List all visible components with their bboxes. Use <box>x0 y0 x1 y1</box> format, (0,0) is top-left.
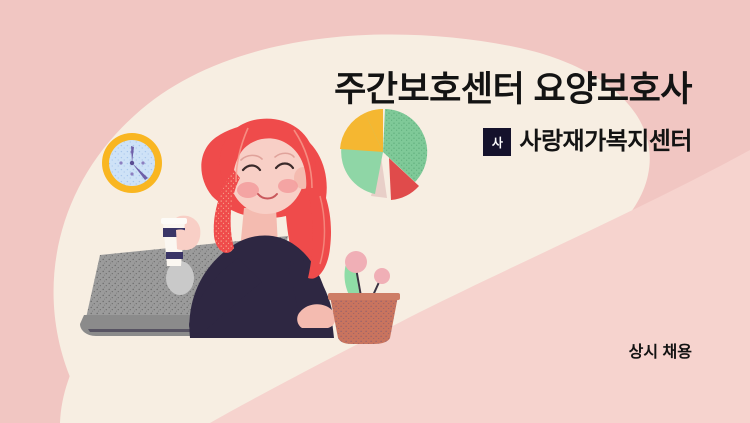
cheek-right <box>278 179 298 193</box>
page-title: 주간보호센터 요양보호사 <box>334 72 692 107</box>
flower-small <box>374 268 390 284</box>
organization-name: 사랑재가복지센터 <box>519 130 692 154</box>
cheek-left <box>237 182 259 198</box>
job-posting-banner: 주간보호센터 요양보호사 사 사랑재가복지센터 상시 채용 <box>0 0 750 423</box>
organization-row: 사 사랑재가복지센터 <box>483 128 692 156</box>
flower-large <box>345 251 367 273</box>
status-badge: 상시 채용 <box>629 338 692 362</box>
pot <box>330 296 398 344</box>
organization-badge-icon: 사 <box>483 128 511 156</box>
wall-clock <box>102 133 162 193</box>
